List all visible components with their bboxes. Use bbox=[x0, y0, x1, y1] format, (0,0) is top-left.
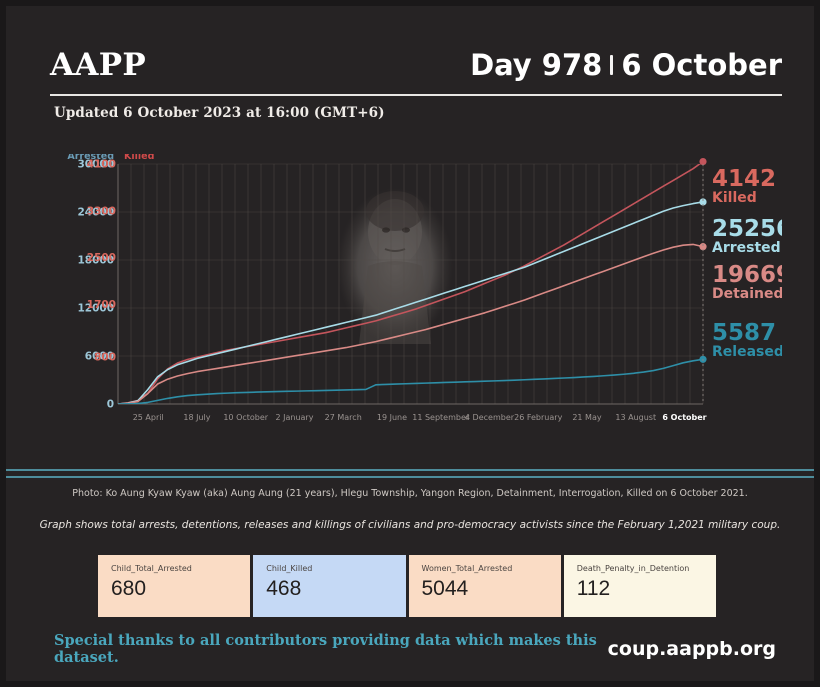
stat-card-label: Women_Total_Arrested bbox=[422, 564, 561, 573]
endpoint-value-killed: 4142 bbox=[712, 166, 776, 192]
stat-card: Women_Total_Arrested5044 bbox=[409, 555, 561, 617]
chart-svg: Arrested Killed 060001200018000240003000… bbox=[50, 154, 782, 444]
endpoint-value-detained: 19669 bbox=[712, 262, 782, 288]
endpoint-label-detained: Detained bbox=[712, 286, 782, 302]
section-divider-top bbox=[6, 469, 814, 471]
thanks-text: Special thanks to all contributors provi… bbox=[54, 632, 608, 666]
x-tick: 25 April bbox=[133, 413, 164, 422]
header-divider bbox=[50, 94, 782, 96]
stat-card-label: Child_Total_Arrested bbox=[111, 564, 250, 573]
main-chart: Arrested Killed 060001200018000240003000… bbox=[50, 154, 782, 444]
stat-card-label: Death_Penalty_in_Detention bbox=[577, 564, 716, 573]
section-divider-bottom bbox=[6, 476, 814, 478]
stat-card-row: Child_Total_Arrested680Child_Killed468Wo… bbox=[98, 555, 716, 617]
y-ticks-arrested: 0600012000180002400030000 bbox=[77, 159, 114, 411]
y-tick-killed: 3300 bbox=[87, 205, 116, 217]
endpoint-label-released: Released bbox=[712, 344, 782, 360]
endpoint-label-killed: Killed bbox=[712, 190, 757, 206]
x-tick: 10 October bbox=[223, 413, 268, 422]
stat-card-value: 5044 bbox=[422, 577, 561, 601]
photo-credit: Photo: Ko Aung Kyaw Kyaw (aka) Aung Aung… bbox=[6, 488, 814, 499]
x-tick: 26 February bbox=[514, 413, 562, 422]
x-tick: 18 July bbox=[183, 413, 210, 422]
stat-card-value: 680 bbox=[111, 577, 250, 601]
separator-bar bbox=[610, 55, 613, 75]
updated-timestamp: Updated 6 October 2023 at 16:00 (GMT+6) bbox=[54, 105, 385, 121]
x-tick: 27 March bbox=[325, 413, 362, 422]
y-tick-killed: 800 bbox=[94, 352, 116, 364]
x-tick-current: 6 October bbox=[662, 413, 706, 422]
x-tick: 13 August bbox=[615, 413, 656, 422]
endpoint-label-arrested: Arrested bbox=[712, 240, 781, 256]
footer: Special thanks to all contributors provi… bbox=[54, 634, 776, 664]
endpoint-labels: 4142Killed25256Arrested19669Detained5587… bbox=[712, 166, 782, 360]
infographic-page: AAPP Day 978 6 October Updated 6 October… bbox=[0, 0, 820, 687]
y-tick-killed: 4100 bbox=[87, 159, 116, 171]
stat-card-value: 112 bbox=[577, 577, 716, 601]
stat-card: Child_Total_Arrested680 bbox=[98, 555, 250, 617]
x-tick: 2 January bbox=[275, 413, 313, 422]
x-tick: 4 December bbox=[465, 413, 515, 422]
y-tick-killed: 2500 bbox=[87, 252, 116, 264]
date-label: 6 October bbox=[621, 48, 782, 82]
graph-description: Graph shows total arrests, detentions, r… bbox=[6, 519, 814, 531]
y-tick-killed: 1700 bbox=[87, 299, 116, 311]
site-url[interactable]: coup.aappb.org bbox=[608, 638, 776, 660]
day-label: Day 978 bbox=[470, 48, 602, 82]
endpoint-value-arrested: 25256 bbox=[712, 216, 782, 242]
stat-card: Death_Penalty_in_Detention112 bbox=[564, 555, 716, 617]
stat-card: Child_Killed468 bbox=[253, 555, 405, 617]
series-line-released bbox=[118, 359, 703, 404]
stat-card-label: Child_Killed bbox=[266, 564, 405, 573]
y-ticks-killed: 8001700250033004100 bbox=[87, 159, 116, 364]
stat-card-value: 468 bbox=[266, 577, 405, 601]
header: AAPP Day 978 6 October bbox=[50, 34, 782, 96]
x-tick: 11 September bbox=[412, 413, 470, 422]
axis-header-killed: Killed bbox=[124, 154, 154, 162]
x-ticks: 25 April18 July10 October2 January27 Mar… bbox=[133, 413, 707, 422]
day-counter: Day 978 6 October bbox=[470, 48, 782, 82]
x-tick: 21 May bbox=[572, 413, 602, 422]
endpoint-value-released: 5587 bbox=[712, 320, 776, 346]
y-tick-arrested: 0 bbox=[107, 399, 114, 411]
page-title: AAPP bbox=[50, 47, 146, 83]
x-tick: 19 June bbox=[377, 413, 407, 422]
